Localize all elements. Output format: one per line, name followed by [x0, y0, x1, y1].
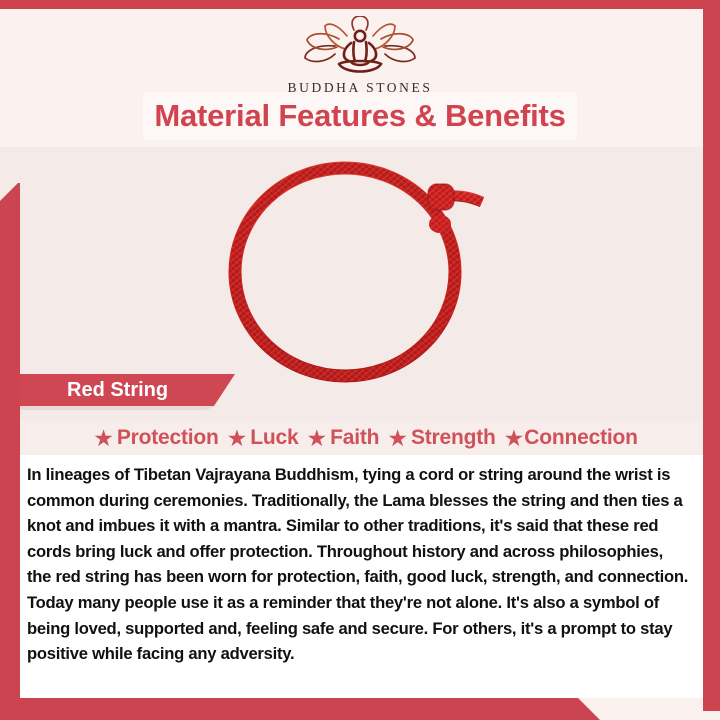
star-icon: ★ [307, 427, 328, 450]
frame-right-bar [703, 0, 720, 711]
frame-bottom-bar [0, 698, 600, 720]
feature-label: Protection [117, 426, 219, 450]
product-label: Red String [20, 379, 168, 402]
feature-label: Connection [524, 426, 638, 450]
star-icon: ★ [227, 427, 248, 450]
ribbon-shadow [20, 406, 216, 410]
frame-top-bar [0, 0, 720, 9]
feature-item-strength: ★ Strength [379, 426, 495, 450]
star-icon: ★ [93, 427, 114, 450]
feature-item-luck: ★ Luck [219, 426, 299, 450]
description-text: In lineages of Tibetan Vajrayana Buddhis… [27, 462, 689, 667]
feature-item-connection: ★ Connection [496, 426, 638, 450]
feature-item-faith: ★ Faith [299, 426, 380, 450]
page-title: Material Features & Benefits [154, 98, 565, 134]
frame-left-bar [0, 183, 20, 720]
feature-label: Luck [250, 426, 298, 450]
product-label-ribbon: Red String [20, 374, 235, 406]
lotus-meditation-icon [0, 16, 720, 78]
star-icon: ★ [387, 427, 408, 450]
brand-logo: BUDDHA STONES [0, 16, 720, 96]
star-icon: ★ [504, 427, 525, 450]
title-banner: Material Features & Benefits [143, 92, 577, 140]
feature-label: Faith [330, 426, 379, 450]
feature-list: ★ Protection ★ Luck ★ Faith ★ Strength ★… [20, 421, 703, 455]
product-image [200, 150, 520, 390]
feature-item-protection: ★ Protection [85, 426, 218, 450]
feature-label: Strength [411, 426, 496, 450]
infographic-card: BUDDHA STONES Material Features & Benefi… [0, 0, 720, 720]
description-panel: In lineages of Tibetan Vajrayana Buddhis… [20, 455, 703, 698]
